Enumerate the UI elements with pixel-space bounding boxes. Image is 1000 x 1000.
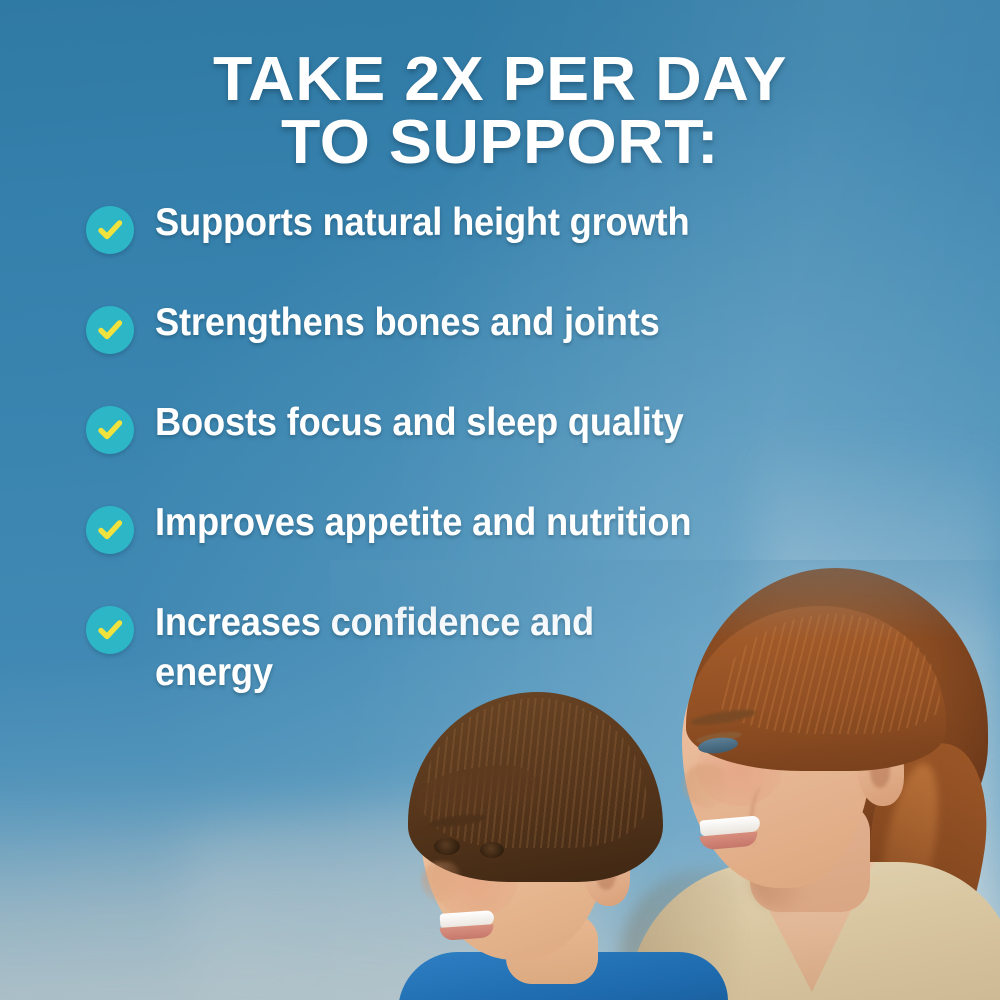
benefit-label: Supports natural height growth <box>155 198 689 248</box>
benefit-item-3: Boosts focus and sleep quality <box>86 398 896 498</box>
check-circle-icon <box>86 206 134 254</box>
benefit-label: Improves appetite and nutrition <box>155 498 691 548</box>
benefit-item-2: Strengthens bones and joints <box>86 298 896 398</box>
benefit-label: Strengthens bones and joints <box>155 298 660 348</box>
check-circle-icon <box>86 406 134 454</box>
check-circle-icon <box>86 306 134 354</box>
promo-poster: TAKE 2X PER DAY TO SUPPORT: Supports nat… <box>0 0 1000 1000</box>
benefit-item-4: Improves appetite and nutrition <box>86 498 896 598</box>
check-circle-icon <box>86 606 134 654</box>
benefit-item-1: Supports natural height growth <box>86 198 896 298</box>
benefit-label: Boosts focus and sleep quality <box>155 398 684 448</box>
poster-headline: TAKE 2X PER DAY TO SUPPORT: <box>0 48 1000 174</box>
benefit-label: Increases confidence and energy <box>155 598 639 698</box>
benefit-item-5: Increases confidence and energy <box>86 598 896 698</box>
check-circle-icon <box>86 506 134 554</box>
headline-line-1: TAKE 2X PER DAY <box>0 48 1000 111</box>
headline-line-2: TO SUPPORT: <box>0 111 1000 174</box>
benefit-list: Supports natural height growth Strengthe… <box>86 198 896 698</box>
